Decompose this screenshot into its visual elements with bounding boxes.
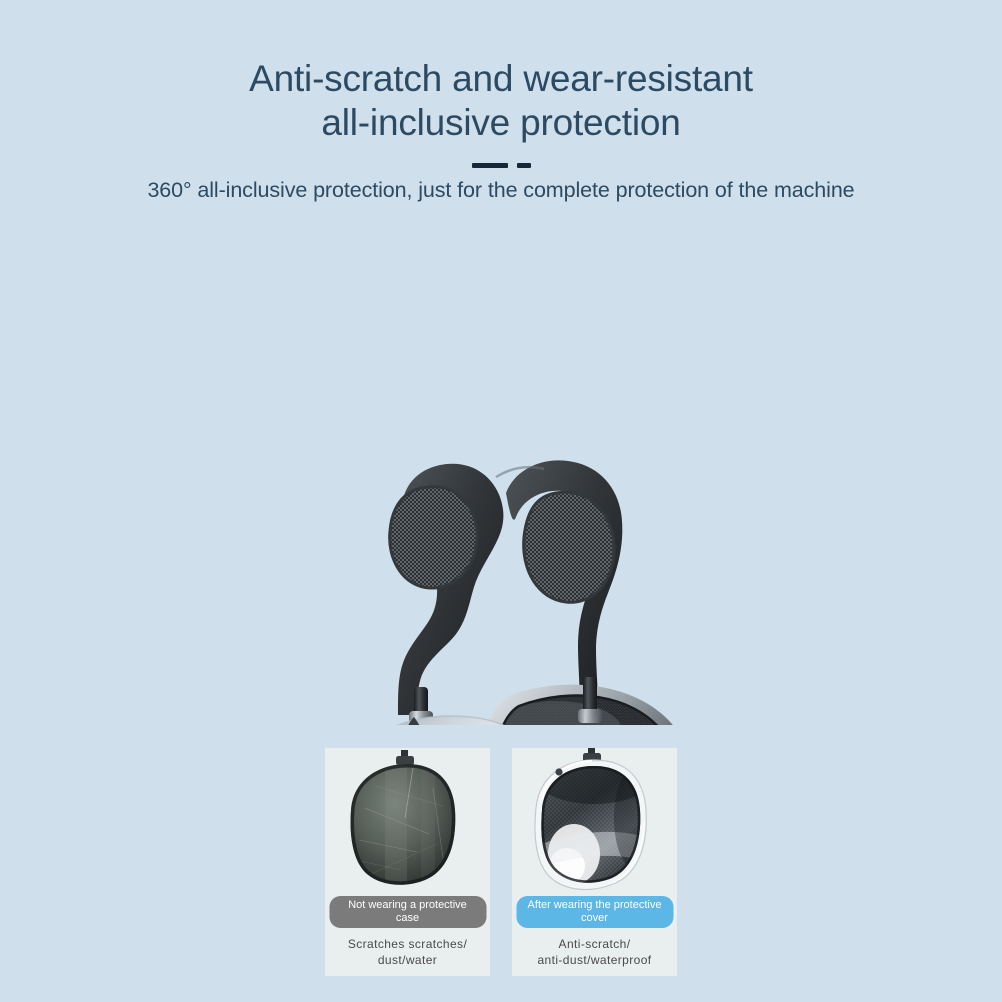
comparison-section: Not wearing a protective case Scratches … bbox=[325, 748, 677, 976]
page-title-line-2: all-inclusive protection bbox=[0, 101, 1002, 145]
protected-earcup-photo bbox=[512, 748, 677, 898]
header-section: Anti-scratch and wear-resistant all-incl… bbox=[0, 0, 1002, 203]
hero-product-image bbox=[0, 225, 1002, 725]
page-title: Anti-scratch and wear-resistant all-incl… bbox=[0, 57, 1002, 145]
page-title-line-1: Anti-scratch and wear-resistant bbox=[0, 57, 1002, 101]
caption-unprotected: Scratches scratches/ dust/water bbox=[325, 936, 490, 968]
comparison-panel-protected: After wearing the protective cover Anti-… bbox=[512, 748, 677, 976]
dash-divider-icon bbox=[0, 162, 1002, 168]
comparison-panel-unprotected: Not wearing a protective case Scratches … bbox=[325, 748, 490, 976]
page-subtitle: 360° all-inclusive protection, just for … bbox=[0, 177, 1002, 203]
scratched-earcup-photo bbox=[325, 748, 490, 898]
badge-protected: After wearing the protective cover bbox=[516, 896, 673, 928]
badge-unprotected: Not wearing a protective case bbox=[329, 896, 486, 928]
divider-dash-short bbox=[517, 163, 531, 168]
caption-protected: Anti-scratch/ anti-dust/waterproof bbox=[512, 936, 677, 968]
divider-dash-long bbox=[472, 163, 508, 168]
